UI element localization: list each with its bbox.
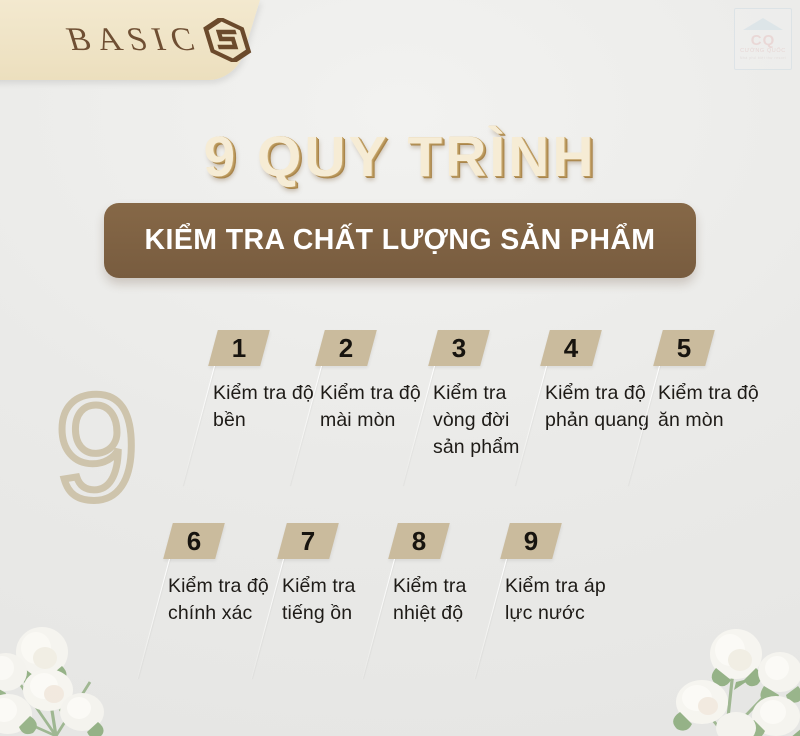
step-badge-6: 6 [163, 523, 225, 559]
brand-name: BASIC [63, 22, 207, 59]
step-label-6: Kiểm tra độ chính xác [168, 573, 274, 627]
step-label-1: Kiểm tra độ bền [213, 380, 319, 434]
step-badge-9: 9 [500, 523, 562, 559]
step-label-9: Kiểm tra áp lực nước [505, 573, 611, 627]
step-pole-1 [182, 366, 216, 486]
step-label-5: Kiểm tra độ ăn mòn [658, 380, 764, 434]
step-number-8: 8 [393, 523, 445, 559]
step-badge-2: 2 [315, 330, 377, 366]
step-label-8: Kiểm tra nhiệt độ [393, 573, 499, 627]
watermark-tagline: Nhà phố biệt thự resort [734, 56, 792, 60]
decorative-nine: 9 [55, 372, 138, 522]
house-roof-icon [743, 18, 783, 30]
page-title: 9 QUY TRÌNH [0, 124, 800, 190]
step-badge-4: 4 [540, 330, 602, 366]
step-item-7[interactable]: 7 Kiểm tra tiếng ồn [282, 523, 334, 559]
step-pole-6 [137, 559, 171, 679]
step-number-9: 9 [505, 523, 557, 559]
step-number-5: 5 [658, 330, 710, 366]
step-number-3: 3 [433, 330, 485, 366]
step-item-4[interactable]: 4 Kiểm tra độ phản quang [545, 330, 597, 366]
step-item-5[interactable]: 5 Kiểm tra độ ăn mòn [658, 330, 710, 366]
step-badge-7: 7 [277, 523, 339, 559]
step-label-7: Kiểm tra tiếng ồn [282, 573, 388, 627]
step-item-1[interactable]: 1 Kiểm tra độ bền [213, 330, 265, 366]
step-item-9[interactable]: 9 Kiểm tra áp lực nước [505, 523, 557, 559]
step-label-2: Kiểm tra độ mài mòn [320, 380, 426, 434]
hexagon-s-logo-icon [200, 18, 255, 62]
step-item-6[interactable]: 6 Kiểm tra độ chính xác [168, 523, 220, 559]
watermark: CQ CƯỜNG QUỐC Nhà phố biệt thự resort [734, 8, 792, 70]
white-roses-icon-left [0, 586, 176, 736]
step-number-4: 4 [545, 330, 597, 366]
step-badge-8: 8 [388, 523, 450, 559]
step-number-2: 2 [320, 330, 372, 366]
step-badge-3: 3 [428, 330, 490, 366]
infographic-poster: BASIC CQ CƯỜNG QUỐC Nhà phố biệt thự res… [0, 0, 800, 736]
brand-logo: BASIC [0, 0, 324, 80]
step-badge-1: 1 [208, 330, 270, 366]
white-roses-icon-right [630, 586, 800, 736]
step-label-4: Kiểm tra độ phản quang [545, 380, 651, 434]
watermark-company: CƯỜNG QUỐC [734, 48, 792, 54]
step-number-6: 6 [168, 523, 220, 559]
watermark-initials: CQ [734, 32, 792, 49]
subtitle-banner: KIỂM TRA CHẤT LƯỢNG SẢN PHẨM [104, 203, 696, 278]
step-number-7: 7 [282, 523, 334, 559]
subtitle-banner-text: KIỂM TRA CHẤT LƯỢNG SẢN PHẨM [145, 224, 656, 257]
step-number-1: 1 [213, 330, 265, 366]
step-item-8[interactable]: 8 Kiểm tra nhiệt độ [393, 523, 445, 559]
step-item-2[interactable]: 2 Kiểm tra độ mài mòn [320, 330, 372, 366]
step-badge-5: 5 [653, 330, 715, 366]
step-item-3[interactable]: 3 Kiểm tra vòng đời sản phẩm [433, 330, 485, 366]
